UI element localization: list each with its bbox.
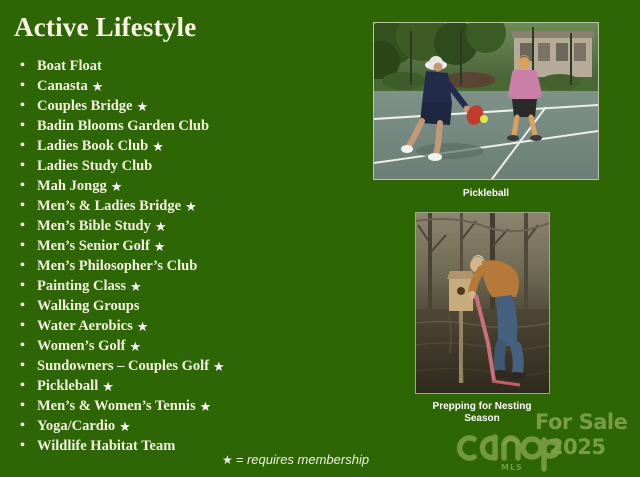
bullet-icon: • xyxy=(20,116,25,136)
activity-item: •Ladies Study Club xyxy=(18,156,368,176)
activity-item: •Women’s Golf★ xyxy=(18,336,368,356)
canopy-mls-logo: MLS xyxy=(455,427,567,473)
bullet-icon: • xyxy=(20,316,25,336)
star-icon: ★ xyxy=(222,453,233,467)
activity-label: Sundowners – Couples Golf xyxy=(37,358,209,374)
bullet-icon: • xyxy=(20,356,25,376)
activity-label: Women’s Golf xyxy=(37,338,125,354)
activity-label: Badin Blooms Garden Club xyxy=(37,118,209,134)
activity-item: •Men’s & Women’s Tennis★ xyxy=(18,396,368,416)
nesting-photo xyxy=(415,212,550,394)
activity-label: Walking Groups xyxy=(37,298,139,314)
nesting-caption-line1: Prepping for Nesting xyxy=(433,401,532,412)
activity-item: •Canasta★ xyxy=(18,76,368,96)
activity-item: •Sundowners – Couples Golf★ xyxy=(18,356,368,376)
activity-item: •Men’s & Ladies Bridge★ xyxy=(18,196,368,216)
activity-item: •Men’s Philosopher’s Club xyxy=(18,256,368,276)
activity-label: Mah Jongg xyxy=(37,178,107,194)
bullet-icon: • xyxy=(20,336,25,356)
footnote-text: = requires membership xyxy=(236,452,369,467)
membership-star-icon: ★ xyxy=(111,180,123,195)
bullet-icon: • xyxy=(20,176,25,196)
watermark-line2: 2025 xyxy=(549,435,640,460)
activity-item: •Men’s Senior Golf★ xyxy=(18,236,368,256)
activity-label: Canasta xyxy=(37,78,88,94)
activity-label: Men’s & Women’s Tennis xyxy=(37,398,196,414)
page-title: Active Lifestyle xyxy=(14,12,196,43)
bullet-icon: • xyxy=(20,136,25,156)
bullet-icon: • xyxy=(20,296,25,316)
activity-item: •Yoga/Cardio★ xyxy=(18,416,368,436)
activity-item: •Ladies Book Club★ xyxy=(18,136,368,156)
activity-label: Men’s Bible Study xyxy=(37,218,151,234)
activity-item: •Painting Class★ xyxy=(18,276,368,296)
bullet-icon: • xyxy=(20,236,25,256)
activity-list: •Boat Float•Canasta★•Couples Bridge★•Bad… xyxy=(18,56,368,456)
membership-star-icon: ★ xyxy=(92,80,104,95)
activity-label: Men’s Philosopher’s Club xyxy=(37,258,197,274)
membership-star-icon: ★ xyxy=(137,320,149,335)
activity-label: Couples Bridge xyxy=(37,98,132,114)
activity-label: Ladies Study Club xyxy=(37,158,152,174)
bullet-icon: • xyxy=(20,416,25,436)
activity-item: •Men’s Bible Study★ xyxy=(18,216,368,236)
membership-star-icon: ★ xyxy=(200,400,212,415)
bullet-icon: • xyxy=(20,216,25,236)
nesting-caption: Prepping for Nesting Season xyxy=(404,401,560,425)
bullet-icon: • xyxy=(20,156,25,176)
activity-label: Yoga/Cardio xyxy=(37,418,115,434)
bullet-icon: • xyxy=(20,376,25,396)
bullet-icon: • xyxy=(20,76,25,96)
membership-star-icon: ★ xyxy=(119,420,131,435)
activity-label: Ladies Book Club xyxy=(37,138,148,154)
membership-star-icon: ★ xyxy=(136,100,148,115)
membership-star-icon: ★ xyxy=(152,140,164,155)
membership-footnote: ★= requires membership xyxy=(222,452,369,467)
activity-item: •Pickleball★ xyxy=(18,376,368,396)
pickleball-photo xyxy=(373,22,599,180)
activity-label: Pickleball xyxy=(37,378,98,394)
activity-label: Wildlife Habitat Team xyxy=(37,438,175,454)
activity-item: •Couples Bridge★ xyxy=(18,96,368,116)
membership-star-icon: ★ xyxy=(102,380,114,395)
activity-item: •Boat Float xyxy=(18,56,368,76)
membership-star-icon: ★ xyxy=(185,200,197,215)
membership-star-icon: ★ xyxy=(130,280,142,295)
activity-label: Men’s & Ladies Bridge xyxy=(37,198,181,214)
bullet-icon: • xyxy=(20,436,25,456)
membership-star-icon: ★ xyxy=(154,240,166,255)
membership-star-icon: ★ xyxy=(155,220,167,235)
bullet-icon: • xyxy=(20,196,25,216)
slide-canvas: Active Lifestyle •Boat Float•Canasta★•Co… xyxy=(0,0,640,477)
bullet-icon: • xyxy=(20,276,25,296)
membership-star-icon: ★ xyxy=(129,340,141,355)
pickleball-caption: Pickleball xyxy=(373,188,599,200)
activity-label: Boat Float xyxy=(37,58,102,74)
bullet-icon: • xyxy=(20,256,25,276)
activity-item: •Water Aerobics★ xyxy=(18,316,368,336)
bullet-icon: • xyxy=(20,96,25,116)
membership-star-icon: ★ xyxy=(213,360,225,375)
bullet-icon: • xyxy=(20,396,25,416)
activity-label: Water Aerobics xyxy=(37,318,133,334)
nesting-caption-line2: Season xyxy=(464,413,500,424)
activity-label: Men’s Senior Golf xyxy=(37,238,150,254)
bullet-icon: • xyxy=(20,56,25,76)
activity-item: •Walking Groups xyxy=(18,296,368,316)
svg-text:MLS: MLS xyxy=(501,463,523,472)
activity-item: •Mah Jongg★ xyxy=(18,176,368,196)
activity-label: Painting Class xyxy=(37,278,126,294)
activity-item: •Badin Blooms Garden Club xyxy=(18,116,368,136)
